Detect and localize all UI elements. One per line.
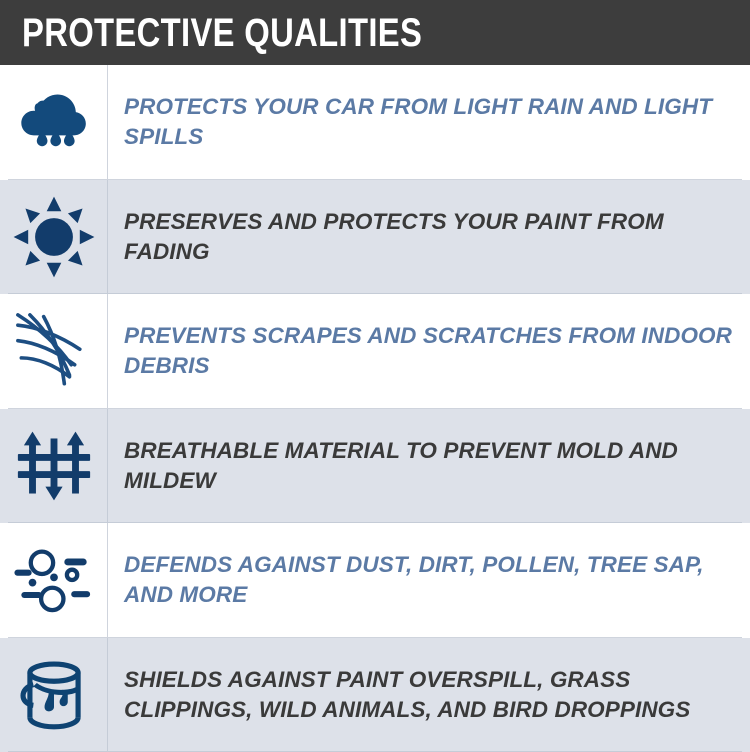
breathable-airflow-icon [11,423,97,509]
text-cell: PREVENTS SCRAPES AND SCRATCHES FROM INDO… [108,294,750,409]
feature-text: BREATHABLE MATERIAL TO PREVENT MOLD AND … [124,436,734,496]
text-cell: PROTECTS YOUR CAR FROM LIGHT RAIN AND LI… [108,65,750,180]
text-cell: PRESERVES AND PROTECTS YOUR PAINT FROM F… [108,180,750,295]
woven-mesh-icon [11,308,97,394]
list-item: BREATHABLE MATERIAL TO PREVENT MOLD AND … [0,409,750,524]
protective-qualities-infographic: PROTECTIVE QUALITIES PROTECTS YOUR CAR F… [0,0,750,750]
paint-can-icon [11,652,97,738]
list-item: SHIELDS AGAINST PAINT OVERSPILL, GRASS C… [0,638,750,752]
text-cell: BREATHABLE MATERIAL TO PREVENT MOLD AND … [108,409,750,524]
rain-cloud-icon [11,79,97,165]
list-item: PROTECTS YOUR CAR FROM LIGHT RAIN AND LI… [0,65,750,180]
icon-cell [0,523,108,638]
feature-text: PRESERVES AND PROTECTS YOUR PAINT FROM F… [124,207,734,267]
icon-cell [0,294,108,409]
icon-cell [0,638,108,752]
feature-text: PROTECTS YOUR CAR FROM LIGHT RAIN AND LI… [124,92,734,152]
feature-text: SHIELDS AGAINST PAINT OVERSPILL, GRASS C… [124,665,734,725]
icon-cell [0,180,108,295]
list-item: DEFENDS AGAINST DUST, DIRT, POLLEN, TREE… [0,523,750,638]
text-cell: DEFENDS AGAINST DUST, DIRT, POLLEN, TREE… [108,523,750,638]
sun-icon [11,194,97,280]
feature-text: PREVENTS SCRAPES AND SCRATCHES FROM INDO… [124,321,734,381]
icon-cell [0,409,108,524]
icon-cell [0,65,108,180]
page-title: PROTECTIVE QUALITIES [22,13,422,53]
text-cell: SHIELDS AGAINST PAINT OVERSPILL, GRASS C… [108,638,750,752]
feature-list: PROTECTS YOUR CAR FROM LIGHT RAIN AND LI… [0,65,750,752]
feature-text: DEFENDS AGAINST DUST, DIRT, POLLEN, TREE… [124,550,734,610]
header-bar: PROTECTIVE QUALITIES [0,0,750,65]
dust-particles-icon [11,537,97,623]
list-item: PREVENTS SCRAPES AND SCRATCHES FROM INDO… [0,294,750,409]
list-item: PRESERVES AND PROTECTS YOUR PAINT FROM F… [0,180,750,295]
